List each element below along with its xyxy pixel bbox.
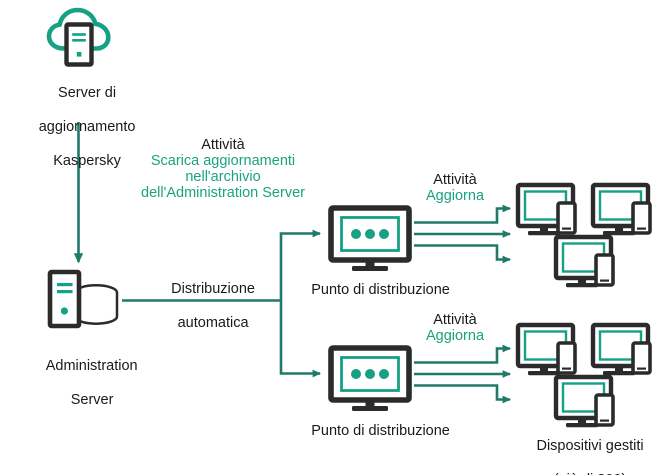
- download-task-body-line3: dell'Administration Server: [88, 185, 358, 201]
- monitor-phone-icon-top-3: [556, 237, 613, 287]
- update-task-top-body: Aggiorna: [395, 188, 515, 204]
- update-task-top-heading: Attività: [395, 172, 515, 188]
- distribution-point-top-label-text: Punto di distribuzione: [311, 282, 450, 298]
- download-task-body-line2: nell'archivio: [88, 169, 358, 185]
- distribution-point-bottom-label-text: Punto di distribuzione: [311, 423, 450, 439]
- monitor-phone-icon-bottom-2: [593, 325, 650, 375]
- download-task-body-line1: Scarica aggiornamenti: [88, 153, 358, 169]
- update-server-label-line1: Server di: [58, 85, 116, 101]
- administration-server-label: Administration Server: [8, 341, 160, 426]
- distribution-point-icon-bottom: [331, 348, 409, 411]
- administration-server-label-line1: Administration: [46, 358, 138, 374]
- diagram-canvas: Server di aggiornamento Kaspersky Attivi…: [0, 0, 660, 475]
- update-server-label-line2: aggiornamento: [39, 119, 136, 135]
- monitor-phone-icon-top-1: [518, 185, 575, 235]
- update-task-top-label: Attività Aggiorna: [395, 172, 515, 204]
- monitor-phone-icon-top-2: [593, 185, 650, 235]
- auto-distribution-line2: automatica: [178, 315, 249, 331]
- update-task-bottom-label: Attività Aggiorna: [395, 312, 515, 344]
- distribution-point-icon-top: [331, 208, 409, 271]
- auto-distribution-line1: Distribuzione: [171, 281, 255, 297]
- managed-devices-label: Dispositivi gestiti (più di 300): [504, 421, 660, 475]
- server-database-icon: [50, 272, 117, 326]
- administration-server-label-line2: Server: [71, 392, 114, 408]
- monitor-phone-icon-bottom-1: [518, 325, 575, 375]
- monitor-phone-icon-bottom-3: [556, 377, 613, 427]
- download-task-label: Attività Scarica aggiornamenti nell'arch…: [88, 137, 358, 201]
- update-task-bottom-body: Aggiorna: [395, 328, 515, 344]
- auto-distribution-label: Distribuzione automatica: [140, 264, 270, 349]
- download-task-heading: Attività: [88, 137, 358, 153]
- cloud-server-icon: [49, 10, 108, 65]
- distribution-point-bottom-label: Punto di distribuzione: [285, 406, 460, 457]
- managed-devices-label-line1: Dispositivi gestiti: [536, 438, 643, 454]
- distribution-point-top-label: Punto di distribuzione: [285, 265, 460, 316]
